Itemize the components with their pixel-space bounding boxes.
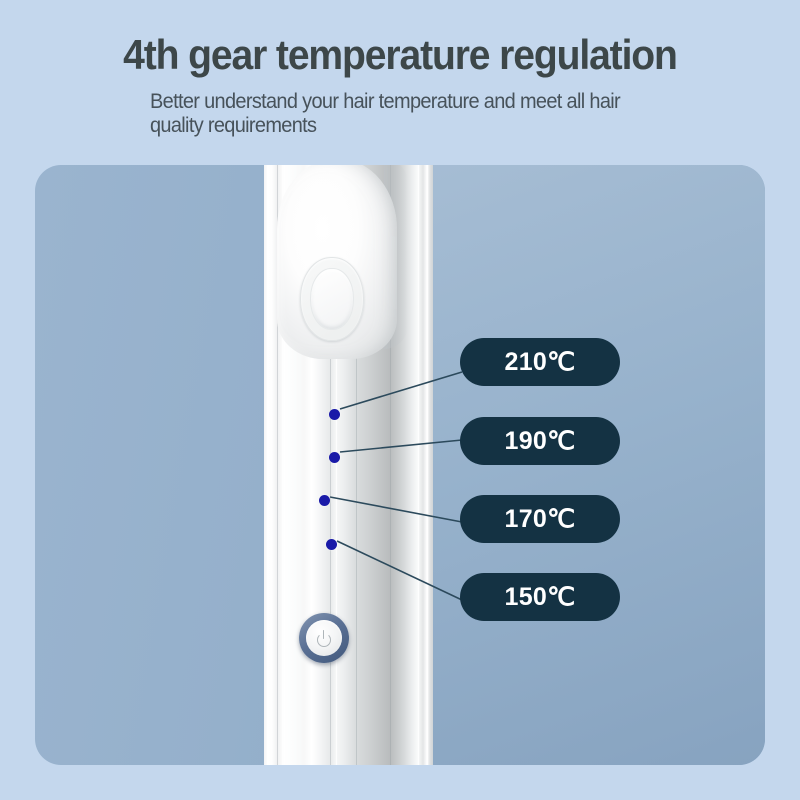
power-icon — [316, 630, 332, 646]
header-block: 4th gear temperature regulation Better u… — [0, 0, 800, 160]
temperature-indicator-dot[interactable] — [329, 452, 340, 463]
temperature-indicator-dot[interactable] — [319, 495, 330, 506]
product-image-panel — [35, 165, 765, 765]
panel-gradient-overlay — [398, 165, 765, 765]
temperature-indicator-dot[interactable] — [329, 409, 340, 420]
hair-straightener-device — [264, 165, 433, 765]
temperature-label-210[interactable]: 210℃ — [460, 338, 620, 386]
power-button[interactable] — [299, 613, 349, 663]
page-subtitle: Better understand your hair temperature … — [150, 90, 644, 137]
page-title: 4th gear temperature regulation — [28, 32, 772, 78]
device-seam-highlight — [418, 165, 419, 765]
temperature-label-150[interactable]: 150℃ — [460, 573, 620, 621]
temperature-indicator-dot[interactable] — [326, 539, 337, 550]
temperature-label-190[interactable]: 190℃ — [460, 417, 620, 465]
device-seam-highlight — [427, 165, 428, 765]
oval-control-button[interactable] — [310, 268, 354, 330]
power-button-face — [306, 620, 342, 656]
device-seam-highlight — [267, 165, 268, 765]
temperature-label-170[interactable]: 170℃ — [460, 495, 620, 543]
